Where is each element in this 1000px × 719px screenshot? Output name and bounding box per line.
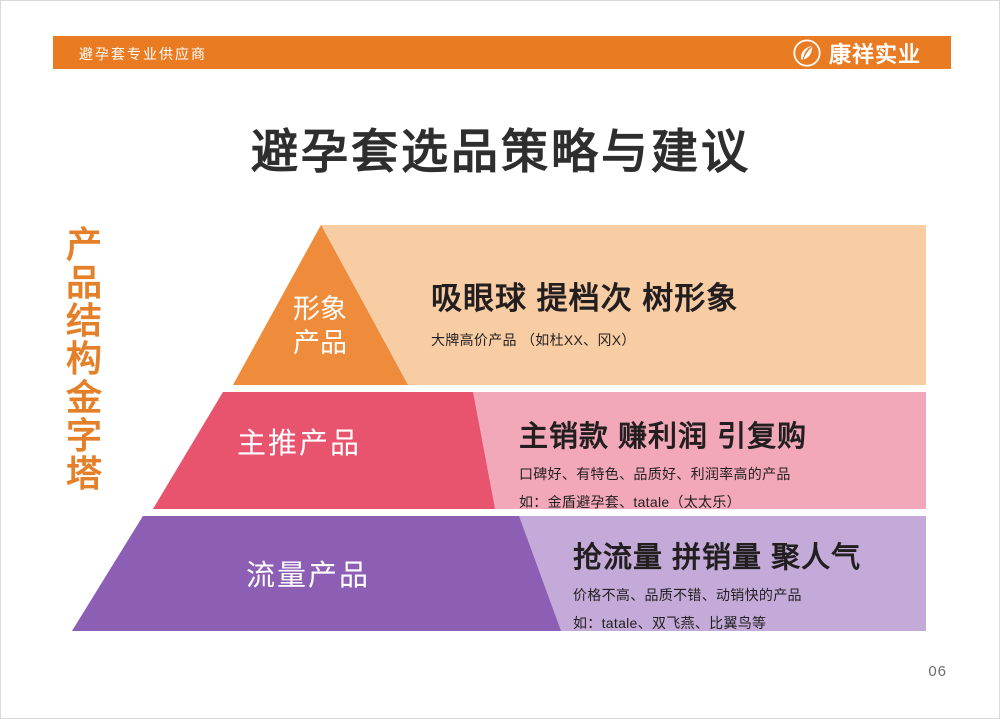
tier-label-line: 产品: [277, 327, 363, 361]
vertical-label-char: 品: [61, 264, 107, 302]
slide-canvas: 避孕套专业供应商 康祥实业 避孕套选品策略与建议 产 品 结 构 金 字 塔: [0, 0, 1000, 719]
tier-subline: 如：金盾避孕套、tatale（太太乐）: [519, 492, 807, 512]
vertical-section-label: 产 品 结 构 金 字 塔: [61, 226, 107, 493]
page-number: 06: [928, 663, 947, 680]
vertical-label-char: 产: [61, 226, 107, 264]
leaf-emblem-icon: [793, 39, 821, 67]
tier-label-traffic-product: 流量产品: [246, 552, 370, 594]
tier-headline: 抢流量 拼销量 聚人气: [573, 534, 861, 576]
vertical-label-char: 塔: [61, 455, 107, 493]
vertical-label-char: 字: [61, 417, 107, 455]
tier-copy-traffic-product: 抢流量 拼销量 聚人气 价格不高、品质不错、动销快的产品 如：tatale、双飞…: [573, 534, 861, 633]
brand-logo: 康祥实业: [793, 38, 921, 68]
vertical-label-char: 金: [61, 379, 107, 417]
tier-subline: 价格不高、品质不错、动销快的产品: [573, 585, 861, 605]
brand-name: 康祥实业: [829, 37, 921, 69]
page-title: 避孕套选品策略与建议: [1, 113, 1000, 182]
tier-copy-main-push-product: 主销款 赚利润 引复购 口碑好、有特色、品质好、利润率高的产品 如：金盾避孕套、…: [519, 413, 807, 512]
tier-label-line: 形象: [277, 293, 363, 327]
tier-subline: 口碑好、有特色、品质好、利润率高的产品: [519, 464, 807, 484]
vertical-label-char: 构: [61, 340, 107, 378]
tier-headline: 吸眼球 提档次 树形象: [431, 273, 738, 318]
tier-label-main-push-product: 主推产品: [237, 420, 361, 462]
tier-subline: 大牌高价产品 （如杜XX、冈X）: [431, 330, 738, 350]
tier-subline: 如：tatale、双飞燕、比翼鸟等: [573, 613, 861, 633]
header-tagline: 避孕套专业供应商: [79, 44, 207, 64]
tier-headline: 主销款 赚利润 引复购: [519, 413, 807, 455]
tier-copy-image-product: 吸眼球 提档次 树形象 大牌高价产品 （如杜XX、冈X）: [431, 273, 738, 350]
vertical-label-char: 结: [61, 302, 107, 340]
tier-label-image-product: 形象 产品: [277, 293, 363, 361]
